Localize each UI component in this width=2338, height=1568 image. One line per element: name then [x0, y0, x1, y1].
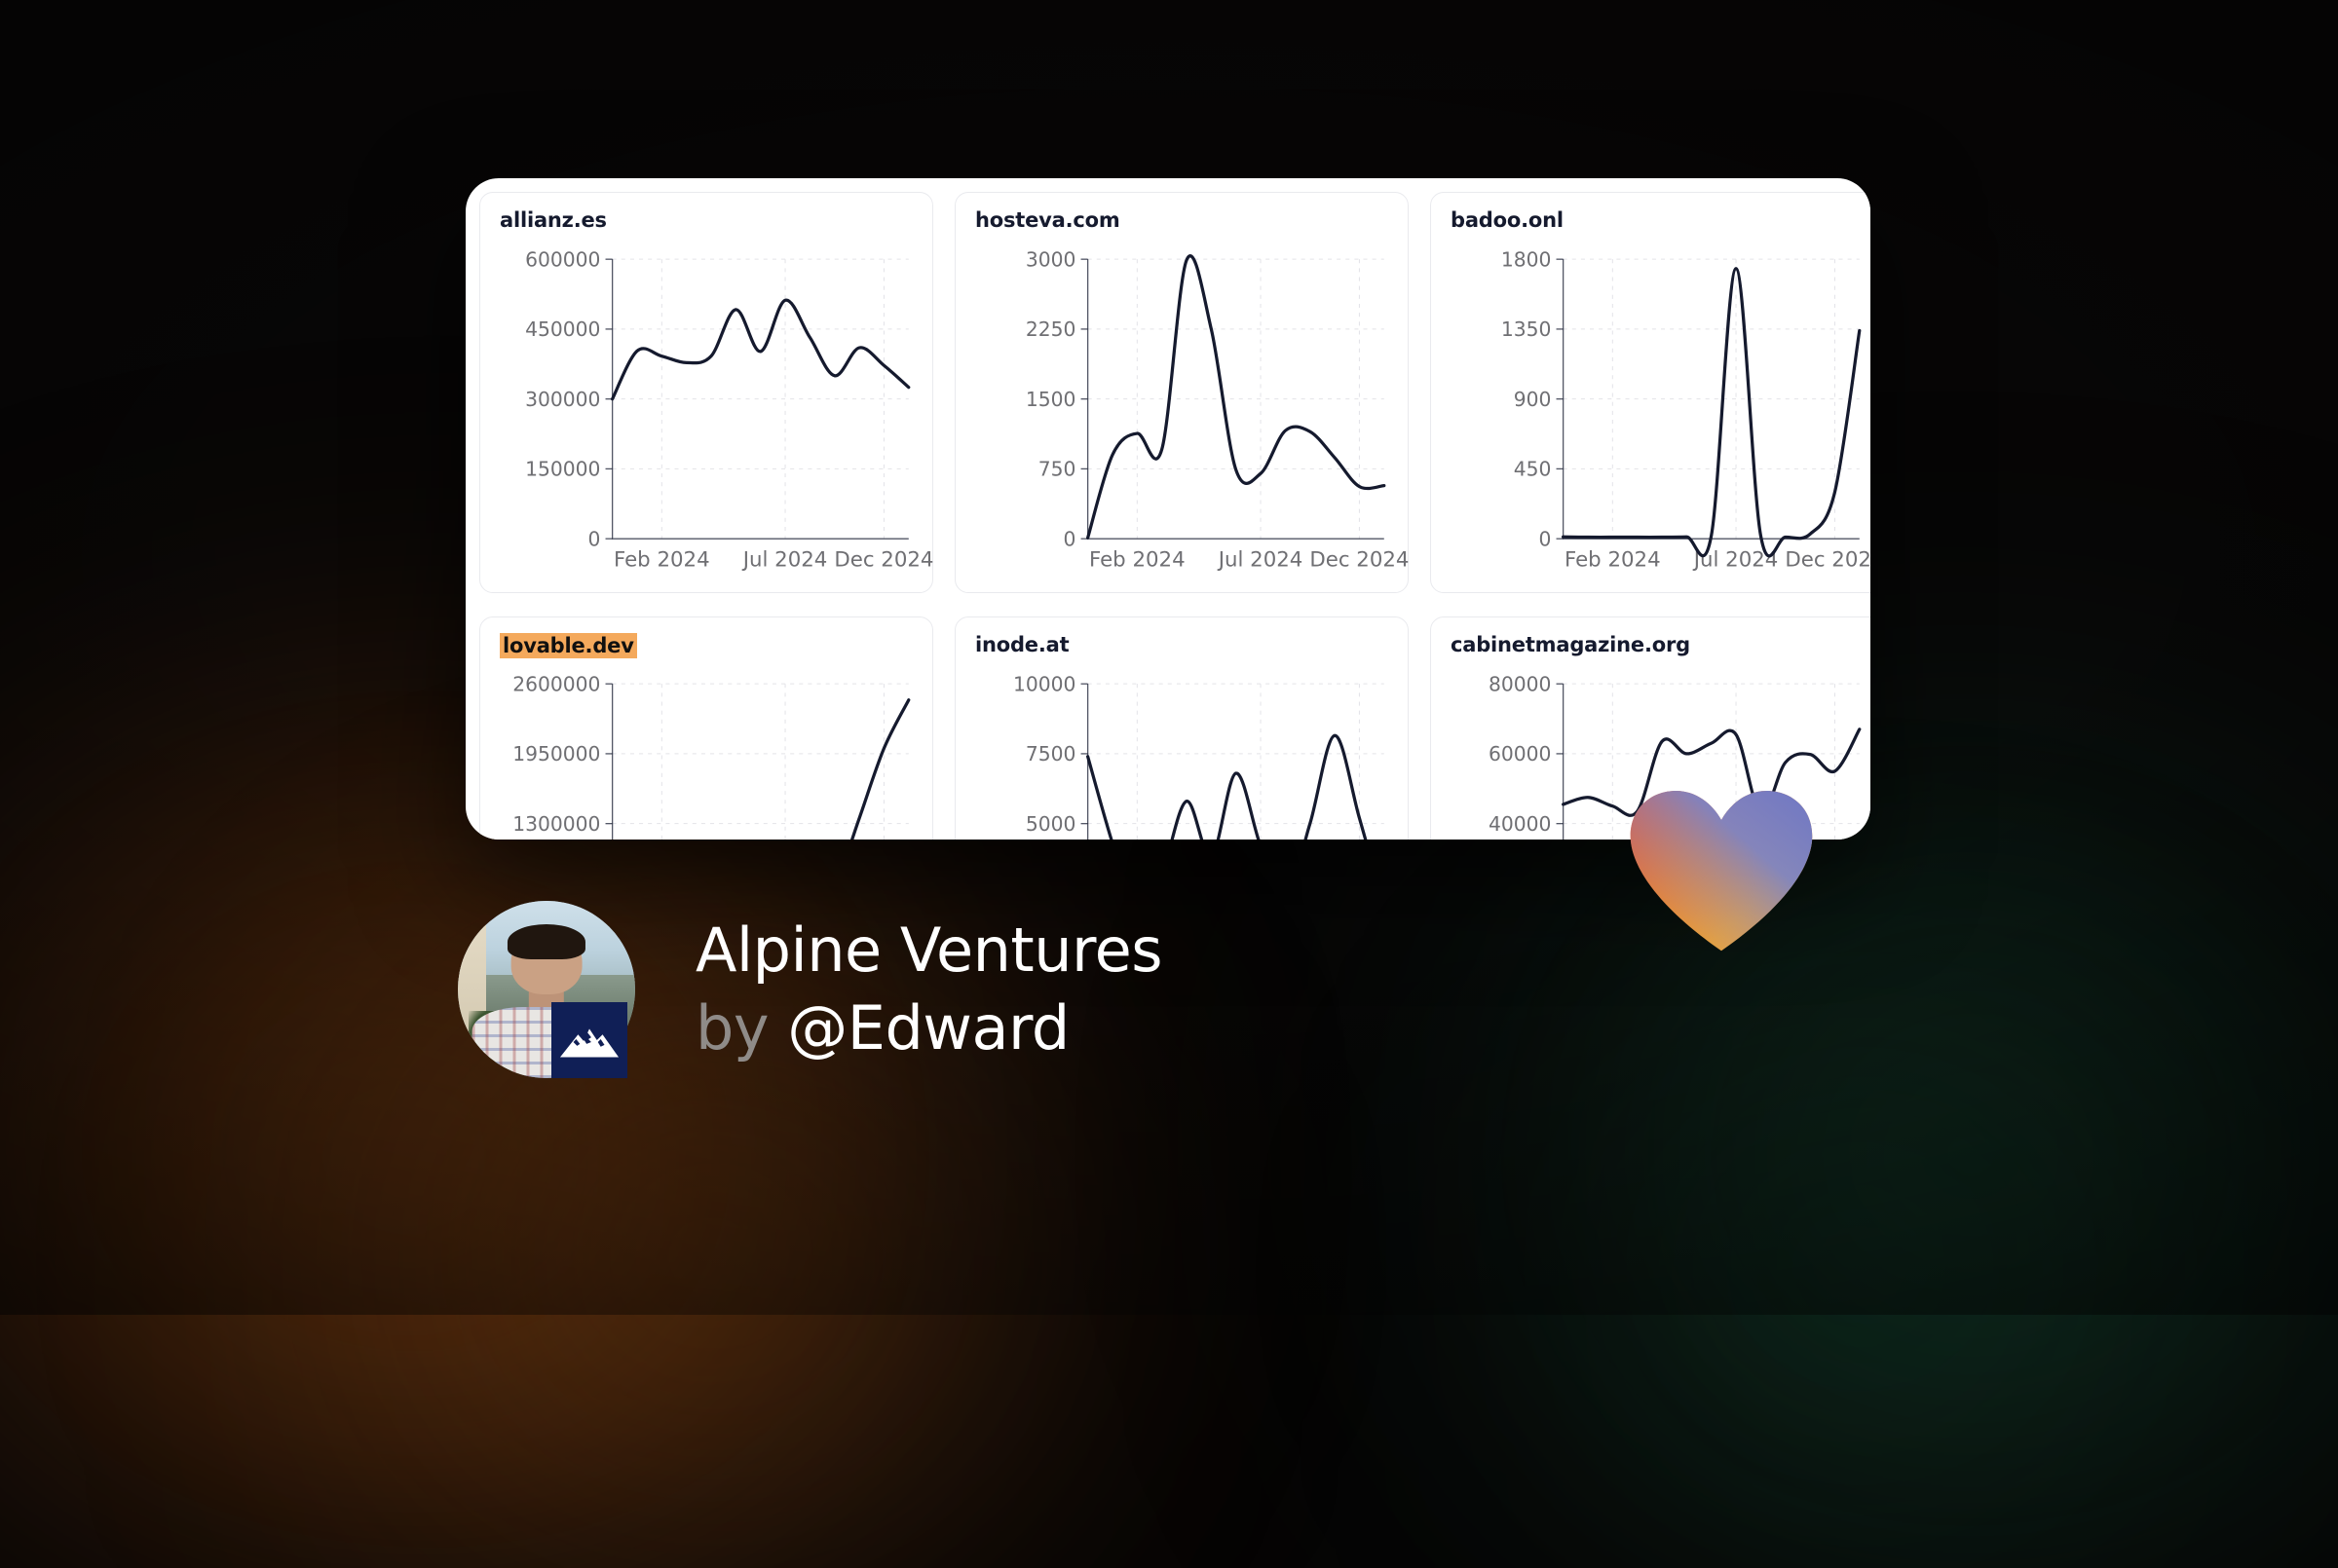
chart-line: [1564, 269, 1860, 556]
chart-plot: 0750150022503000Feb 2024Jul 2024Dec 2024: [971, 249, 1400, 586]
avatar-wrapper: [458, 901, 635, 1078]
y-tick-label: 2250: [1026, 317, 1076, 341]
chart-line: [1088, 256, 1384, 539]
chart-plot: 650000130000019500002600000Feb 2024Jul 2…: [496, 674, 924, 840]
brand-byline: by @Edward: [696, 998, 1162, 1059]
y-tick-label: 0: [588, 527, 601, 550]
avatar-person-hair: [508, 924, 585, 959]
chart-card[interactable]: badoo.onl045090013501800Feb 2024Jul 2024…: [1430, 192, 1870, 593]
chart-card[interactable]: inode.at25005000750010000Feb 2024Jul 202…: [955, 616, 1409, 840]
x-tick-label: Dec 2024: [834, 548, 933, 573]
chart-title: lovable.dev: [500, 633, 637, 658]
page-title: Alpine Ventures: [696, 920, 1162, 981]
x-tick-label: Feb 2024: [1089, 548, 1186, 573]
x-tick-label: Dec 2024: [1785, 548, 1870, 573]
x-tick-label: Jul 2024: [741, 548, 828, 573]
y-tick-label: 900: [1514, 388, 1552, 411]
mountain-icon: [551, 1002, 627, 1078]
y-tick-label: 1350: [1501, 317, 1552, 341]
y-tick-label: 300000: [525, 388, 600, 411]
chart-plot: 25005000750010000Feb 2024Jul 2024Dec 202…: [971, 674, 1400, 840]
chart-plot: 045090013501800Feb 2024Jul 2024Dec 2024: [1447, 249, 1870, 586]
chart-card[interactable]: allianz.es0150000300000450000600000Feb 2…: [479, 192, 933, 593]
y-tick-label: 450: [1514, 457, 1552, 480]
chart-title: badoo.onl: [1451, 208, 1564, 232]
chart-card[interactable]: lovable.dev650000130000019500002600000Fe…: [479, 616, 933, 840]
chart-title: cabinetmagazine.org: [1451, 633, 1690, 656]
by-label: by: [696, 992, 769, 1064]
chart-title: hosteva.com: [975, 208, 1120, 232]
y-tick-label: 150000: [525, 457, 600, 480]
y-tick-label: 60000: [1489, 742, 1551, 765]
y-tick-label: 2600000: [512, 672, 600, 695]
chart-plot: 0150000300000450000600000Feb 2024Jul 202…: [496, 249, 924, 586]
chart-grid: allianz.es0150000300000450000600000Feb 2…: [466, 178, 1870, 840]
x-tick-label: Dec 2024: [1309, 548, 1409, 573]
x-tick-label: Jul 2024: [1217, 548, 1303, 573]
y-tick-label: 1800: [1501, 247, 1552, 271]
y-tick-label: 3000: [1026, 247, 1076, 271]
chart-card[interactable]: hosteva.com0750150022503000Feb 2024Jul 2…: [955, 192, 1409, 593]
chart-title: allianz.es: [500, 208, 607, 232]
chart-title: inode.at: [975, 633, 1069, 656]
y-tick-label: 0: [1539, 527, 1552, 550]
y-tick-label: 40000: [1489, 812, 1551, 836]
x-tick-label: Feb 2024: [614, 548, 710, 573]
y-tick-label: 7500: [1026, 742, 1076, 765]
y-tick-label: 0: [1064, 527, 1076, 550]
y-tick-label: 1500: [1026, 388, 1076, 411]
chart-line: [613, 300, 909, 399]
dashboard-panel: allianz.es0150000300000450000600000Feb 2…: [466, 178, 1870, 840]
y-tick-label: 600000: [525, 247, 600, 271]
y-tick-label: 5000: [1026, 812, 1076, 836]
y-tick-label: 80000: [1489, 672, 1551, 695]
heart-icon: [1629, 791, 1814, 954]
brand-footer: Alpine Ventures by @Edward: [458, 901, 1162, 1078]
brand-text: Alpine Ventures by @Edward: [696, 920, 1162, 1059]
y-tick-label: 1300000: [512, 812, 600, 836]
y-tick-label: 450000: [525, 317, 600, 341]
y-tick-label: 750: [1038, 457, 1076, 480]
x-tick-label: Feb 2024: [1565, 548, 1661, 573]
brand-handle: @Edward: [787, 992, 1070, 1064]
chart-line: [613, 700, 909, 840]
y-tick-label: 1950000: [512, 742, 600, 765]
y-tick-label: 10000: [1013, 672, 1075, 695]
